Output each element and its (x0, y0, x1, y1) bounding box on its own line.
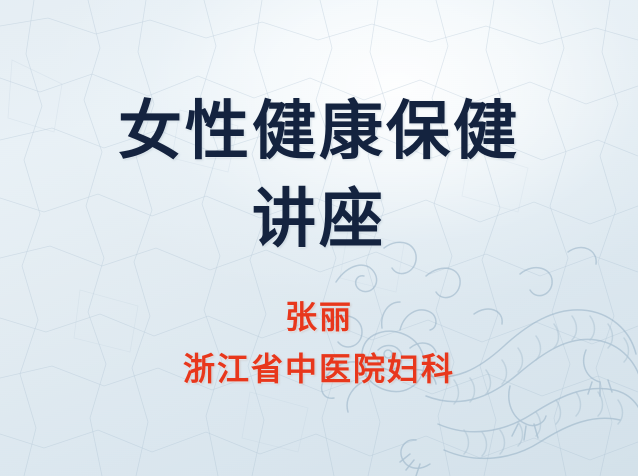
slide-title: 女性健康保健 讲座 (0, 88, 638, 265)
title-line-1: 女性健康保健 (0, 88, 638, 176)
presenter-name: 张丽 (0, 292, 638, 344)
presenter-affiliation: 浙江省中医院妇科 (0, 344, 638, 396)
title-line-2: 讲座 (0, 176, 638, 264)
slide-content: 女性健康保健 讲座 张丽 浙江省中医院妇科 (0, 0, 638, 476)
slide-subtitle: 张丽 浙江省中医院妇科 (0, 292, 638, 396)
presentation-slide: 女性健康保健 讲座 张丽 浙江省中医院妇科 (0, 0, 638, 476)
